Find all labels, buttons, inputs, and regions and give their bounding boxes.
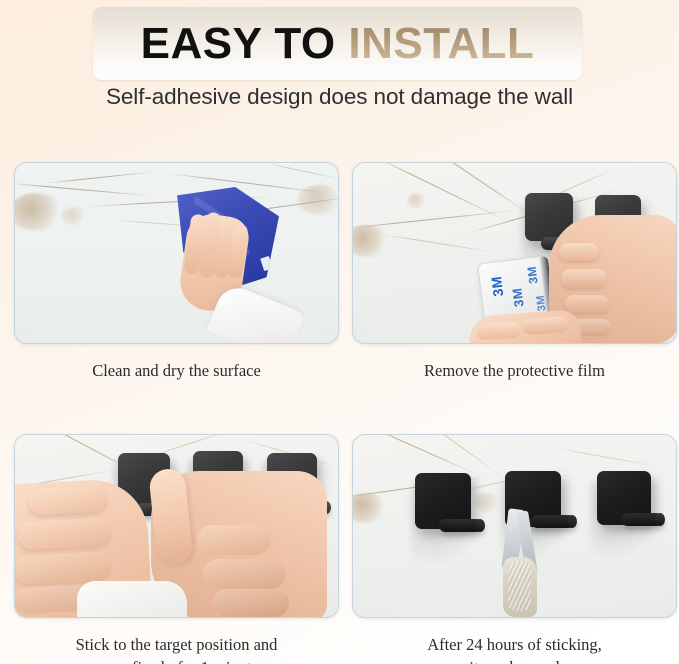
step-4-caption-line1: After 24 hours of sticking, [352, 634, 677, 656]
step-card-1: Clean and dry the surface [14, 162, 339, 382]
step-3-caption-line2: press firmly for 1 minute [14, 657, 339, 664]
step-4-photo [352, 434, 677, 618]
title-banner: EASY TO INSTALL [93, 7, 582, 80]
hook-3 [597, 471, 651, 525]
step-3-caption-line1: Stick to the target position and [14, 634, 339, 656]
marble-blotch [297, 185, 339, 215]
step-1-caption: Clean and dry the surface [14, 360, 339, 382]
page-subtitle: Self-adhesive design does not damage the… [0, 84, 679, 110]
step-3-photo [14, 434, 339, 618]
step-card-3: Stick to the target position and press f… [14, 434, 339, 664]
title-part-install: INSTALL [348, 19, 534, 68]
step-2-caption: Remove the protective film [352, 360, 677, 382]
marble-blotch [61, 207, 87, 225]
step-2-photo: 3M 3M 3M 3M [352, 162, 677, 344]
adhesive-brand-label: 3M [488, 275, 506, 297]
step-4-caption: After 24 hours of sticking, it can be us… [352, 634, 677, 664]
hanging-towel [495, 509, 543, 617]
page-title: EASY TO INSTALL [141, 22, 535, 66]
hook-peg [439, 519, 483, 532]
adhesive-brand-label: 3M [525, 265, 541, 284]
steps-row-2: Stick to the target position and press f… [0, 434, 679, 664]
infographic-page: EASY TO INSTALL Self-adhesive design doe… [0, 0, 679, 664]
step-1-photo [14, 162, 339, 344]
title-part-easy-to: EASY TO [141, 19, 336, 68]
step-4-caption-line2: it can be used [352, 657, 677, 664]
steps-grid: Clean and dry the surface [0, 162, 679, 664]
towel-body [503, 557, 537, 617]
adhesive-brand-label: 3M [509, 287, 526, 308]
steps-row-1: Clean and dry the surface [0, 162, 679, 382]
hook-peg [621, 513, 663, 526]
hook-1 [415, 473, 471, 529]
marble-blotch [407, 193, 427, 209]
step-card-2: 3M 3M 3M 3M [352, 162, 677, 382]
step-3-caption: Stick to the target position and press f… [14, 634, 339, 664]
sleeve-bottom [77, 581, 187, 618]
step-card-4: After 24 hours of sticking, it can be us… [352, 434, 677, 664]
